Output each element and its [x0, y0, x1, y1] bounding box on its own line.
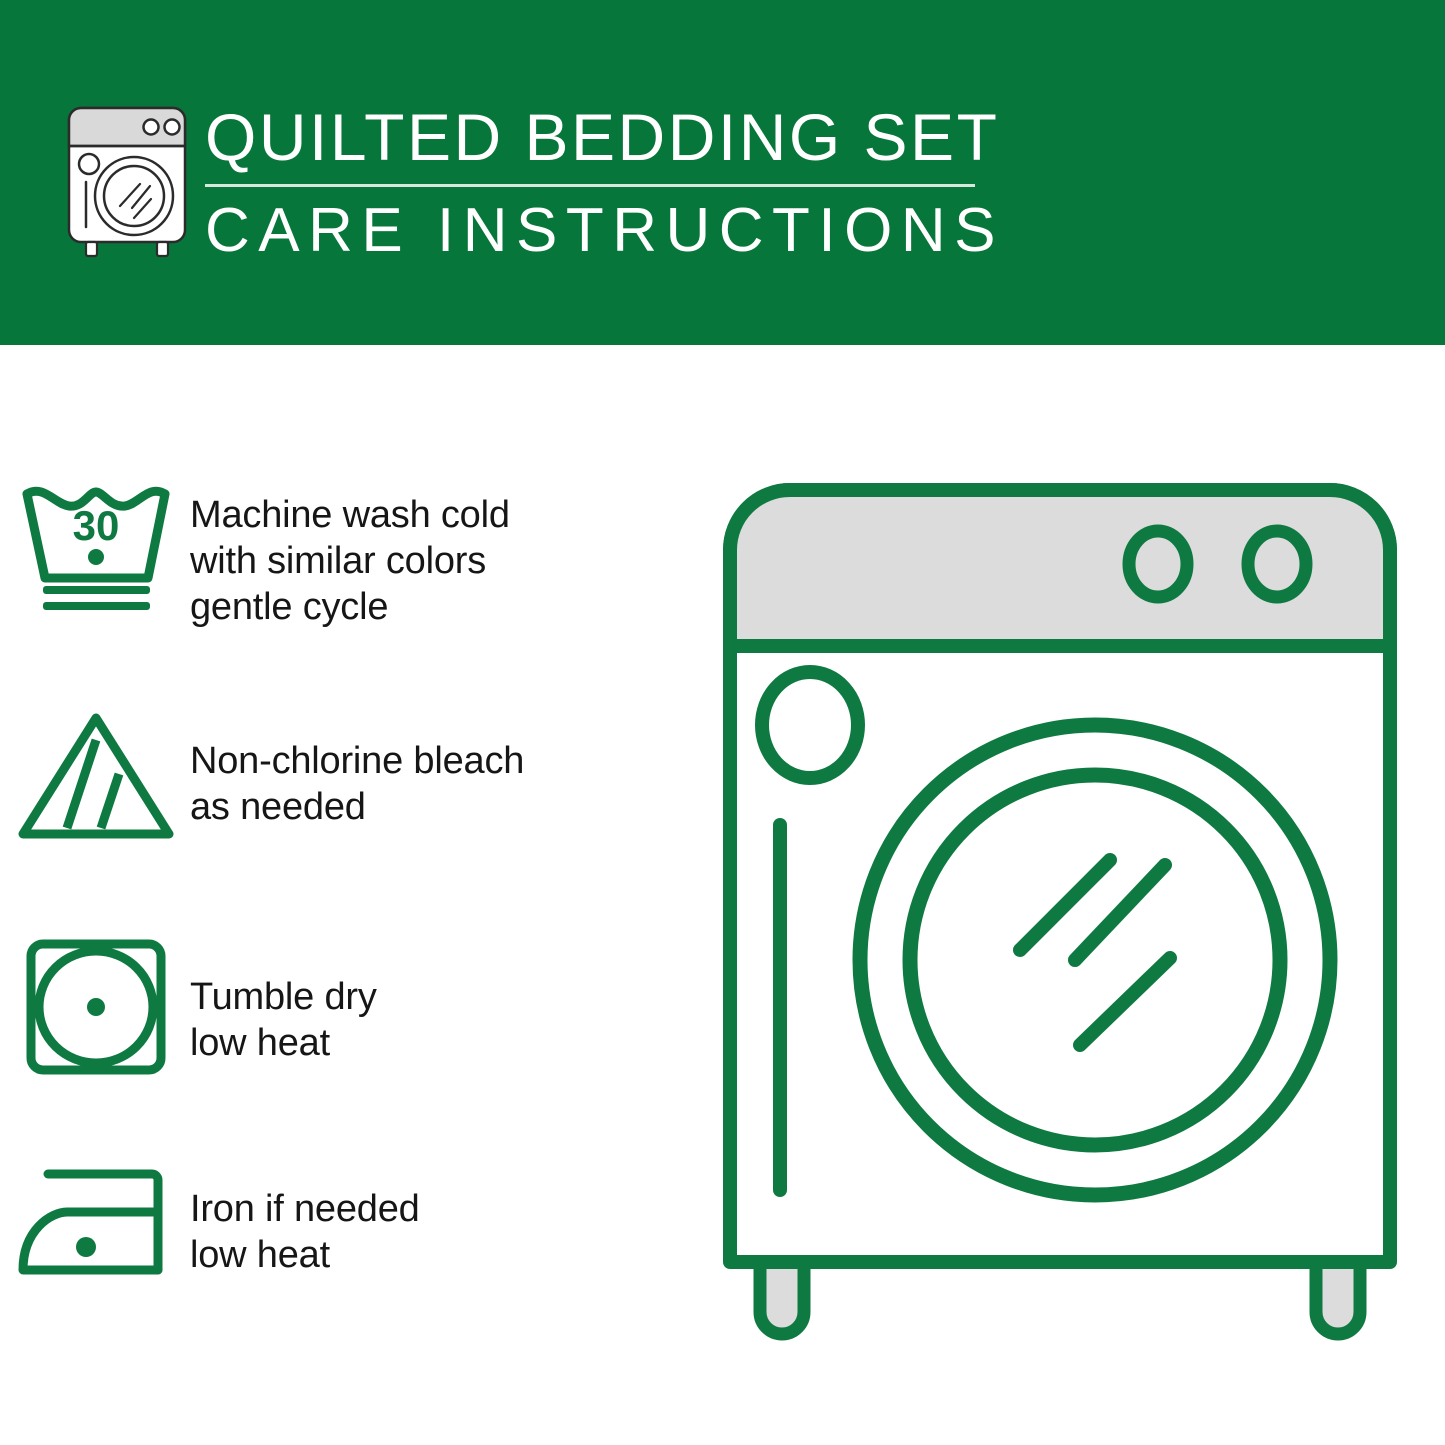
care-text: Iron if needed low heat — [190, 1150, 420, 1278]
care-text: Non-chlorine bleach as needed — [190, 700, 524, 830]
title-divider — [205, 184, 975, 187]
care-text-line: with similar colors — [190, 538, 510, 584]
care-text: Tumble dry low heat — [190, 932, 377, 1066]
page-subtitle: CARE INSTRUCTIONS — [205, 196, 985, 266]
care-text-line: low heat — [190, 1020, 377, 1066]
wash-temperature-label: 30 — [72, 502, 119, 549]
care-text-line: Tumble dry — [190, 974, 377, 1020]
care-row: Tumble dry low heat — [0, 932, 700, 1082]
care-instructions-page: QUILTED BEDDING SET CARE INSTRUCTIONS 30 — [0, 0, 1445, 1445]
wash-tub-30-gentle-icon: 30 — [0, 470, 190, 620]
care-row: 30 Machine wash cold with similar colors… — [0, 470, 700, 630]
care-text-line: Non-chlorine bleach — [190, 738, 524, 784]
care-row: Non-chlorine bleach as needed — [0, 700, 700, 850]
dispenser-button — [762, 672, 858, 778]
care-text-line: low heat — [190, 1232, 420, 1278]
door-inner-ring — [910, 775, 1280, 1145]
care-text-line: as needed — [190, 784, 524, 830]
care-text-line: gentle cycle — [190, 584, 510, 630]
header-text-block: QUILTED BEDDING SET CARE INSTRUCTIONS — [205, 101, 985, 266]
care-text-line: Machine wash cold — [190, 492, 510, 538]
page-title: QUILTED BEDDING SET — [205, 101, 985, 173]
control-knob — [1129, 531, 1187, 597]
header-banner: QUILTED BEDDING SET CARE INSTRUCTIONS — [0, 0, 1445, 345]
care-text: Machine wash cold with similar colors ge… — [190, 470, 510, 630]
control-knob — [1248, 531, 1306, 597]
washing-machine-icon — [62, 100, 192, 260]
tumble-dry-low-heat-icon — [0, 932, 190, 1082]
washing-machine-illustration — [720, 480, 1400, 1370]
non-chlorine-bleach-triangle-icon — [0, 700, 190, 850]
care-text-line: Iron if needed — [190, 1186, 420, 1232]
care-row: Iron if needed low heat — [0, 1150, 700, 1300]
iron-low-heat-icon — [0, 1150, 190, 1300]
